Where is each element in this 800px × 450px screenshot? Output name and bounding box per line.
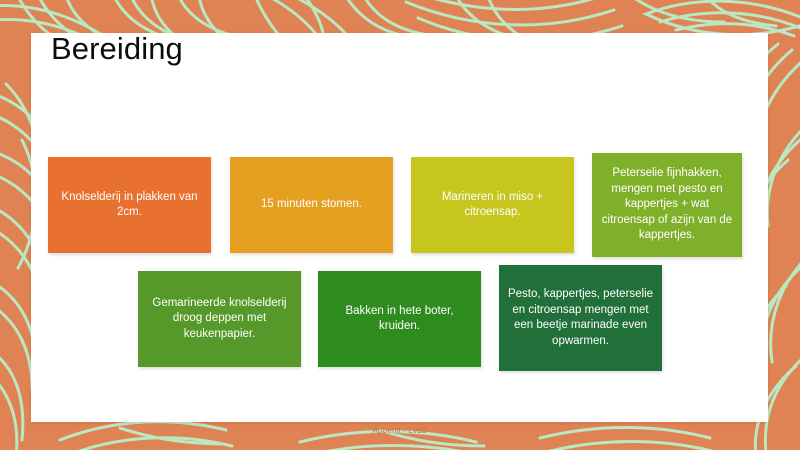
step-box-7: Pesto, kappertjes, peterselie en citroen…	[499, 265, 662, 371]
step-box-4-label: Peterselie fijnhakken, mengen met pesto …	[600, 166, 734, 244]
step-box-6: Bakken in hete boter, kruiden.	[318, 271, 481, 367]
step-box-7-label: Pesto, kappertjes, peterselie en citroen…	[507, 287, 654, 349]
step-box-3: Marineren in miso + citroensap.	[411, 157, 574, 253]
step-box-2-label: 15 minuten stomen.	[238, 197, 385, 213]
footer-credit: Appetijt - LvdB	[0, 426, 800, 436]
page-title: Bereiding	[51, 30, 183, 68]
step-box-4: Peterselie fijnhakken, mengen met pesto …	[592, 153, 742, 257]
step-box-1: Knolselderij in plakken van 2cm.	[48, 157, 211, 253]
step-box-1-label: Knolselderij in plakken van 2cm.	[56, 190, 203, 221]
step-box-3-label: Marineren in miso + citroensap.	[419, 190, 566, 221]
step-box-2: 15 minuten stomen.	[230, 157, 393, 253]
step-box-5-label: Gemarineerde knolselderij droog deppen m…	[146, 296, 293, 343]
step-box-5: Gemarineerde knolselderij droog deppen m…	[138, 271, 301, 367]
step-box-6-label: Bakken in hete boter, kruiden.	[326, 304, 473, 335]
slide-canvas: Bereiding Knolselderij in plakken van 2c…	[0, 0, 800, 450]
